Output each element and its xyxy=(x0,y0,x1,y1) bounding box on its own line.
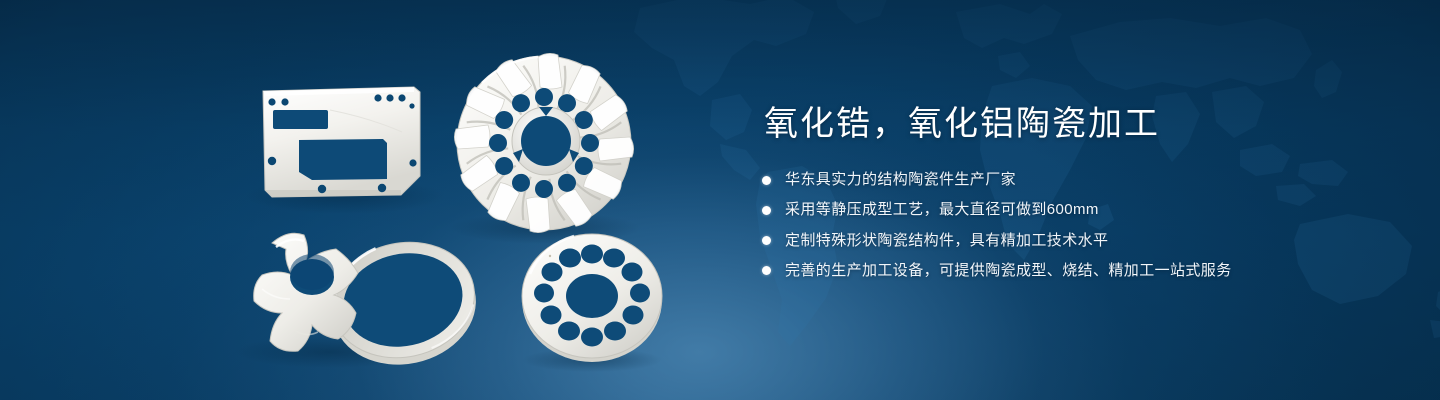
feature-text: 完善的生产加工设备，可提供陶瓷成型、烧结、精加工一站式服务 xyxy=(785,261,1232,281)
bullet-dot-icon xyxy=(762,236,771,245)
feature-text: 采用等静压成型工艺，最大直径可做到600mm xyxy=(785,200,1099,220)
list-item: 完善的生产加工设备，可提供陶瓷成型、烧结、精加工一站式服务 xyxy=(762,261,1362,281)
feature-text: 华东具实力的结构陶瓷件生产厂家 xyxy=(785,170,1016,190)
bladed-impeller-disc xyxy=(454,53,633,232)
perforated-disc xyxy=(522,234,662,362)
feature-text: 定制特殊形状陶瓷结构件，具有精加工技术水平 xyxy=(785,231,1108,251)
page-title: 氧化锆，氧化铝陶瓷加工 xyxy=(764,104,1362,144)
list-item: 华东具实力的结构陶瓷件生产厂家 xyxy=(762,170,1362,190)
banner-copy: 氧化锆，氧化铝陶瓷加工 华东具实力的结构陶瓷件生产厂家 采用等静压成型工艺，最大… xyxy=(762,104,1362,281)
list-item: 定制特殊形状陶瓷结构件，具有精加工技术水平 xyxy=(762,231,1362,251)
bullet-dot-icon xyxy=(762,206,771,215)
machined-flat-plate xyxy=(263,87,420,197)
bullet-dot-icon xyxy=(762,176,771,185)
bullet-dot-icon xyxy=(762,266,771,275)
list-item: 采用等静压成型工艺，最大直径可做到600mm xyxy=(762,200,1362,220)
ceramic-processing-banner: 氧化锆，氧化铝陶瓷加工 华东具实力的结构陶瓷件生产厂家 采用等静压成型工艺，最大… xyxy=(0,0,1440,400)
feature-list: 华东具实力的结构陶瓷件生产厂家 采用等静压成型工艺，最大直径可做到600mm 定… xyxy=(762,170,1362,281)
ceramic-parts-photo xyxy=(0,0,700,400)
